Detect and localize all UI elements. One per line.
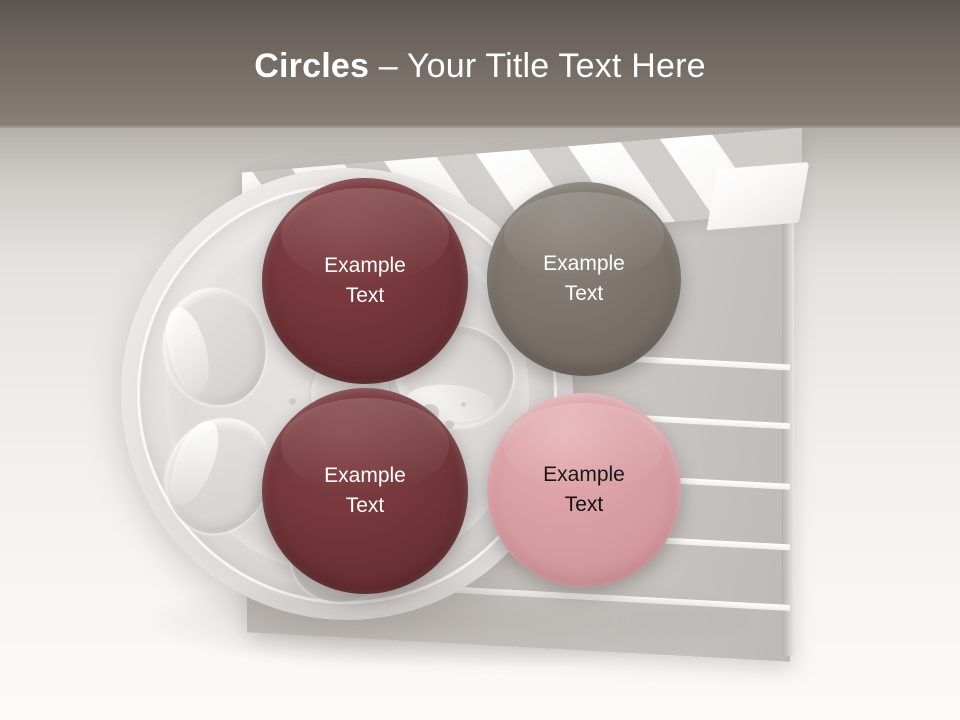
circle-bottom-left-label: ExampleText [298, 461, 432, 521]
circle-bottom-right-label: ExampleText [517, 460, 651, 520]
circle-top-right-line1: Example [543, 252, 625, 275]
floor-shadow [150, 575, 750, 667]
slide-canvas: NT. [0, 0, 960, 720]
circle-bottom-left[interactable]: ExampleText [262, 388, 468, 594]
circle-top-right[interactable]: ExampleText [487, 182, 681, 376]
circle-bottom-left-line1: Example [324, 464, 406, 487]
circle-top-left-label: ExampleText [298, 251, 432, 311]
circle-top-left-line2: Text [346, 284, 385, 307]
page-title-bold: Circles [254, 47, 369, 85]
page-title-separator: – [369, 47, 407, 85]
clapperboard-stick-tip [707, 162, 810, 230]
circle-bottom-right[interactable]: ExampleText [487, 393, 681, 587]
page-title-light: Your Title Text Here [407, 47, 706, 85]
circle-top-left-line1: Example [324, 254, 406, 277]
clapperboard-side-edge [782, 206, 794, 657]
page-title: Circles – Your Title Text Here [0, 44, 960, 88]
circle-bottom-right-line2: Text [565, 493, 604, 516]
circle-top-left[interactable]: ExampleText [262, 178, 468, 384]
circle-top-right-line2: Text [565, 282, 604, 305]
circle-bottom-left-line2: Text [346, 494, 385, 517]
circle-bottom-right-line1: Example [543, 463, 625, 486]
circle-top-right-label: ExampleText [517, 249, 651, 309]
